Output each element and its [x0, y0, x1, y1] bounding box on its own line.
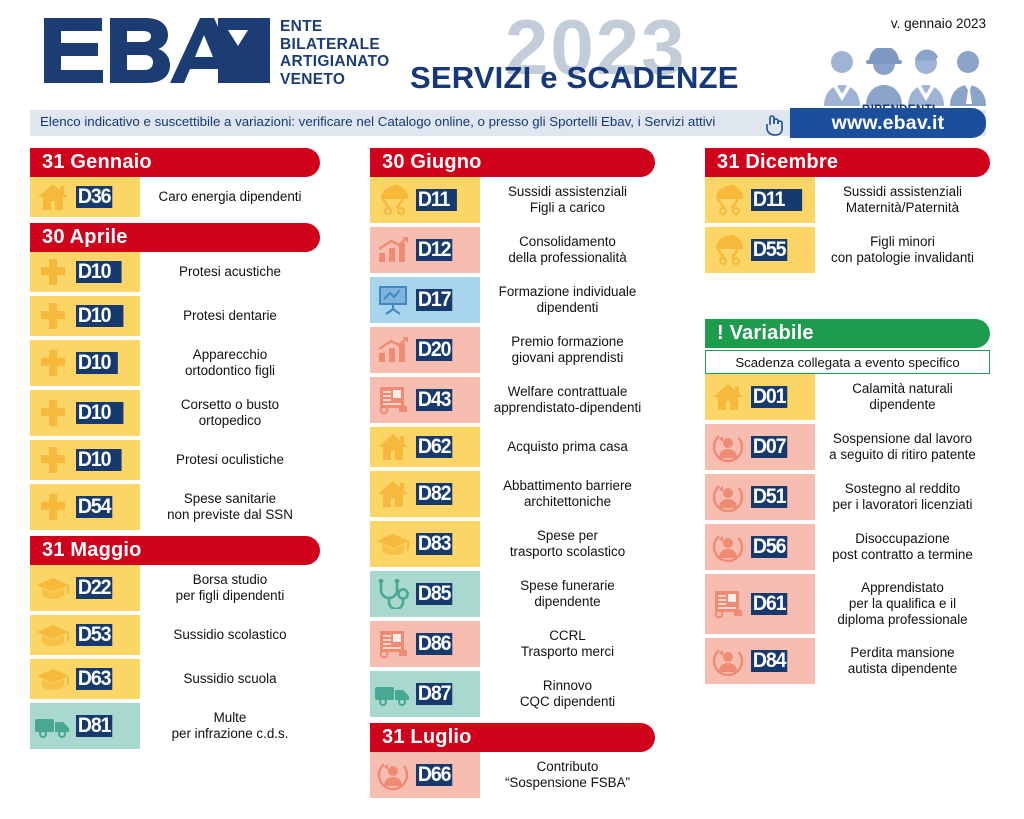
service-label: Spese funerariedipendente [480, 571, 655, 617]
service-label-text: Multeper infrazione c.d.s. [172, 710, 289, 742]
service-label: Sussidio scuola [140, 659, 320, 699]
service-label-text: Corsetto o bustoortopedico [181, 397, 279, 429]
section-title: 31 Maggio [42, 539, 142, 562]
service-label: Sussidio scolastico [140, 615, 320, 655]
service-label: Calamità naturalidipendente [815, 374, 990, 420]
workers-illustration [820, 48, 990, 108]
service-code-cell: D10f [76, 352, 140, 374]
service-label-text: Spese funerariedipendente [520, 578, 615, 610]
service-row[interactable]: D83Spese pertrasporto scolastico [370, 521, 655, 567]
service-code: D82 [416, 483, 452, 505]
service-label: Welfare contrattualeapprendistato-dipend… [480, 377, 655, 423]
service-code-cell: D10v [76, 449, 140, 471]
medical-cross-icon [30, 440, 76, 480]
service-label: Corsetto o bustoortopedico [140, 390, 320, 436]
logo-sub-line: ARTIGIANATO [280, 53, 390, 71]
section-header-31-dicembre: 31 Dicembre [705, 148, 990, 177]
service-label-text: Figli minoricon patologie invalidanti [831, 234, 974, 266]
service-label-text: Sostegno al redditoper i lavoratori lice… [833, 481, 973, 513]
service-label-text: Sussidi assistenzialiFigli a carico [508, 184, 627, 216]
service-code-cell: D17 [416, 289, 480, 311]
person-cycle-icon [705, 474, 751, 520]
service-label-text: Consolidamentodella professionalità [508, 234, 626, 266]
service-label: Sussidi assistenzialiMaternità/Paternità [815, 177, 990, 223]
service-label: CCRLTrasporto merci [480, 621, 655, 667]
section-rows: D66Contributo“Sospensione FSBA” [370, 752, 655, 798]
document-card-icon [370, 377, 416, 423]
service-row[interactable]: D85Spese funerariedipendente [370, 571, 655, 617]
medical-cross-icon [30, 340, 76, 386]
service-code: D85 [416, 583, 452, 605]
service-label: Sospensione dal lavoroa seguito di ritir… [815, 424, 990, 470]
service-row[interactable]: D63Sussidio scuola [30, 659, 320, 699]
person-cycle-icon [705, 424, 751, 470]
service-row[interactable]: D84Perdita mansioneautista dipendente [705, 638, 990, 684]
service-label: Figli minoricon patologie invalidanti [815, 227, 990, 273]
service-label: Protesi dentarie [140, 296, 320, 336]
document-card-icon [705, 574, 751, 634]
service-code: D84 [751, 650, 787, 672]
medical-cross-icon [30, 296, 76, 336]
service-label-text: Sospensione dal lavoroa seguito di ritir… [829, 431, 976, 463]
person-cycle-icon [705, 638, 751, 684]
page-header: ENTE BILATERALE ARTIGIANATO VENETO 2023 … [0, 0, 1024, 140]
service-code: D53 [76, 624, 112, 646]
pointing-hand-icon [762, 112, 788, 136]
column-middle: 30 GiugnoD11fSussidi assistenzialiFigli … [370, 148, 655, 802]
service-label: Apprendistatoper la qualifica e ildiplom… [815, 574, 990, 634]
service-label-text: Protesi oculistiche [176, 452, 284, 468]
service-row[interactable]: D10fApparecchioortodontico figli [30, 340, 320, 386]
service-code-cell: D11f [416, 189, 480, 211]
section: 30 AprileD10aProtesi acusticheD10dProtes… [30, 223, 320, 530]
service-code-cell: D84 [751, 650, 815, 672]
service-code: D55 [751, 239, 787, 261]
service-label: Apparecchioortodontico figli [140, 340, 320, 386]
service-row[interactable]: D53Sussidio scolastico [30, 615, 320, 655]
service-code: D22 [76, 577, 112, 599]
service-label-text: Protesi acustiche [179, 264, 281, 280]
service-label: Sussidi assistenzialiFigli a carico [480, 177, 655, 223]
service-code: D10p [76, 402, 123, 424]
service-code: D01 [751, 386, 787, 408]
house-icon [370, 427, 416, 467]
section-title: 30 Giugno [382, 151, 482, 174]
service-code: D61 [751, 593, 787, 615]
service-code: D07 [751, 436, 787, 458]
service-code: D20 [416, 339, 452, 361]
service-code-cell: D10p [76, 402, 140, 424]
service-code-cell: D10a [76, 261, 140, 283]
service-label-text: Protesi dentarie [183, 308, 277, 324]
service-code-cell: D82 [416, 483, 480, 505]
service-label-text: CCRLTrasporto merci [521, 628, 614, 660]
service-label: Disoccupazionepost contratto a termine [815, 524, 990, 570]
service-code-cell: D63 [76, 668, 140, 690]
service-label: Abbattimento barrierearchitettoniche [480, 471, 655, 517]
section-title: 31 Luglio [382, 726, 472, 749]
service-code: D51 [751, 486, 787, 508]
service-label-text: Welfare contrattualeapprendistato-dipend… [494, 384, 641, 416]
service-code-cell: D85 [416, 583, 480, 605]
website-pill[interactable]: www.ebav.it [790, 108, 986, 138]
section: 31 LuglioD66Contributo“Sospensione FSBA” [370, 723, 655, 798]
service-code: D17 [416, 289, 452, 311]
service-label: RinnovoCQC dipendenti [480, 671, 655, 717]
service-code-cell: D56 [751, 536, 815, 558]
service-code-cell: D01 [751, 386, 815, 408]
page-title: SERVIZI e SCADENZE [410, 60, 739, 96]
service-code: D81 [76, 715, 112, 737]
service-label-text: Apparecchioortodontico figli [185, 347, 275, 379]
service-label: Acquisto prima casa [480, 427, 655, 467]
service-code: D36 [76, 186, 112, 208]
service-row[interactable]: D81Multeper infrazione c.d.s. [30, 703, 320, 749]
truck-icon [30, 703, 76, 749]
website-url: www.ebav.it [832, 112, 945, 135]
service-code: D10d [76, 305, 123, 327]
disclaimer-text: Elenco indicativo e suscettibile a varia… [40, 114, 715, 129]
ebav-logo-mark [42, 12, 270, 90]
service-label: Contributo“Sospensione FSBA” [480, 752, 655, 798]
stroller-icon [370, 177, 416, 223]
section-title: 30 Aprile [42, 226, 128, 249]
section-note: Scadenza collegata a evento specifico [705, 350, 990, 374]
service-row[interactable]: D62Acquisto prima casa [370, 427, 655, 467]
service-label: Protesi oculistiche [140, 440, 320, 480]
section: 30 GiugnoD11fSussidi assistenzialiFigli … [370, 148, 655, 717]
graduation-cap-icon [30, 615, 76, 655]
service-row[interactable]: D43Welfare contrattualeapprendistato-dip… [370, 377, 655, 423]
logo-sub-line: BILATERALE [280, 36, 390, 54]
service-row[interactable]: D11mSussidi assistenzialiMaternità/Pater… [705, 177, 990, 223]
service-label: Perdita mansioneautista dipendente [815, 638, 990, 684]
service-code-cell: D11m [751, 189, 815, 211]
service-code-cell: D66 [416, 764, 480, 786]
service-code: D63 [76, 668, 112, 690]
service-row[interactable]: D82Abbattimento barrierearchitettoniche [370, 471, 655, 517]
section-rows: D10aProtesi acusticheD10dProtesi dentari… [30, 252, 320, 530]
service-label-text: Acquisto prima casa [507, 439, 628, 455]
ebav-logo: ENTE BILATERALE ARTIGIANATO VENETO [42, 12, 390, 90]
service-code: D87 [416, 683, 452, 705]
service-row[interactable]: D20Premio formazionegiovani apprendisti [370, 327, 655, 373]
service-row[interactable]: D56Disoccupazionepost contratto a termin… [705, 524, 990, 570]
column-left: 31 GennaioD36Caro energia dipendenti30 A… [30, 148, 320, 753]
service-row[interactable]: D87RinnovoCQC dipendenti [370, 671, 655, 717]
service-code-cell: D12 [416, 239, 480, 261]
service-label: Multeper infrazione c.d.s. [140, 703, 320, 749]
service-label-text: Contributo“Sospensione FSBA” [505, 759, 630, 791]
service-row[interactable]: D66Contributo“Sospensione FSBA” [370, 752, 655, 798]
section-header-31-luglio: 31 Luglio [370, 723, 655, 752]
service-code-cell: D07 [751, 436, 815, 458]
service-code-cell: D10d [76, 305, 140, 327]
service-label: Caro energia dipendenti [140, 177, 320, 217]
service-row[interactable]: D51Sostegno al redditoper i lavoratori l… [705, 474, 990, 520]
service-label-text: Apprendistatoper la qualifica e ildiplom… [837, 580, 967, 628]
section-header-30-giugno: 30 Giugno [370, 148, 655, 177]
service-row[interactable]: D36Caro energia dipendenti [30, 177, 320, 217]
medical-cross-icon [30, 252, 76, 292]
house-icon [30, 177, 76, 217]
section-rows: D11mSussidi assistenzialiMaternità/Pater… [705, 177, 990, 273]
service-label: Spese sanitarienon previste dal SSN [140, 484, 320, 530]
house-icon [705, 374, 751, 420]
presentation-board-icon [370, 277, 416, 323]
service-code-cell: D61 [751, 593, 815, 615]
section-rows: D01Calamità naturalidipendenteD07Sospens… [705, 374, 990, 684]
column-right: 31 DicembreD11mSussidi assistenzialiMate… [705, 148, 990, 688]
service-code-cell: D22 [76, 577, 140, 599]
service-label: Formazione individualedipendenti [480, 277, 655, 323]
section-header-30-aprile: 30 Aprile [30, 223, 320, 252]
bar-chart-icon [370, 227, 416, 273]
service-code: D10a [76, 261, 122, 283]
service-code-cell: D51 [751, 486, 815, 508]
service-code: D56 [751, 536, 787, 558]
stethoscope-icon [370, 571, 416, 617]
section-title: 31 Gennaio [42, 151, 152, 174]
section-header-31-maggio: 31 Maggio [30, 536, 320, 565]
service-row[interactable]: D55Figli minoricon patologie invalidanti [705, 227, 990, 273]
section-rows: D36Caro energia dipendenti [30, 177, 320, 217]
person-cycle-icon [370, 752, 416, 798]
house-icon [370, 471, 416, 517]
service-code: D12 [416, 239, 452, 261]
service-code-cell: D53 [76, 624, 140, 646]
logo-sub-line: ENTE [280, 18, 390, 36]
service-label-text: Calamità naturalidipendente [852, 381, 952, 413]
section-title: ! Variabile [717, 322, 814, 345]
service-label: Spese pertrasporto scolastico [480, 521, 655, 567]
service-label-text: Premio formazionegiovani apprendisti [511, 334, 623, 366]
service-code: D11m [751, 189, 802, 211]
service-row[interactable]: D86CCRLTrasporto merci [370, 621, 655, 667]
service-label: Consolidamentodella professionalità [480, 227, 655, 273]
bar-chart-icon [370, 327, 416, 373]
graduation-cap-icon [370, 521, 416, 567]
medical-cross-icon [30, 484, 76, 530]
section-header-variabile: ! Variabile [705, 319, 990, 348]
graduation-cap-icon [30, 659, 76, 699]
logo-subtitle: ENTE BILATERALE ARTIGIANATO VENETO [280, 18, 390, 88]
service-label-text: Borsa studioper figli dipendenti [176, 572, 285, 604]
service-code-cell: D83 [416, 533, 480, 555]
service-label-text: Formazione individualedipendenti [499, 284, 637, 316]
section: 31 MaggioD22Borsa studioper figli dipend… [30, 536, 320, 749]
service-row[interactable]: D10aProtesi acustiche [30, 252, 320, 292]
section-note-text: Scadenza collegata a evento specifico [735, 355, 959, 370]
service-code: D11f [416, 189, 457, 211]
service-row[interactable]: D10pCorsetto o bustoortopedico [30, 390, 320, 436]
graduation-cap-icon [30, 565, 76, 611]
truck-icon [370, 671, 416, 717]
service-code-cell: D20 [416, 339, 480, 361]
service-label-text: Caro energia dipendenti [159, 189, 302, 205]
service-row[interactable]: D10vProtesi oculistiche [30, 440, 320, 480]
service-row[interactable]: D01Calamità naturalidipendente [705, 374, 990, 420]
service-code: D86 [416, 633, 452, 655]
service-code: D10v [76, 449, 122, 471]
service-code: D62 [416, 436, 452, 458]
section: 31 GennaioD36Caro energia dipendenti [30, 148, 320, 217]
service-label-text: RinnovoCQC dipendenti [520, 678, 615, 710]
service-label-text: Perdita mansioneautista dipendente [848, 645, 957, 677]
service-label-text: Sussidio scuola [183, 671, 276, 687]
service-code: D66 [416, 764, 452, 786]
service-row[interactable]: D17Formazione individualedipendenti [370, 277, 655, 323]
service-row[interactable]: D22Borsa studioper figli dipendenti [30, 565, 320, 611]
service-code: D10f [76, 352, 118, 374]
service-label-text: Abbattimento barrierearchitettoniche [503, 478, 632, 510]
service-label: Protesi acustiche [140, 252, 320, 292]
service-code: D43 [416, 389, 452, 411]
medical-cross-icon [30, 390, 76, 436]
service-label: Premio formazionegiovani apprendisti [480, 327, 655, 373]
service-code-cell: D81 [76, 715, 140, 737]
document-card-icon [370, 621, 416, 667]
section-title: 31 Dicembre [717, 151, 838, 174]
service-code-cell: D55 [751, 239, 815, 261]
service-row[interactable]: D07Sospensione dal lavoroa seguito di ri… [705, 424, 990, 470]
service-row[interactable]: D11fSussidi assistenzialiFigli a carico [370, 177, 655, 223]
service-code: D83 [416, 533, 452, 555]
version-label: v. gennaio 2023 [891, 16, 986, 31]
section-rows: D11fSussidi assistenzialiFigli a caricoD… [370, 177, 655, 717]
section: 31 DicembreD11mSussidi assistenzialiMate… [705, 148, 990, 273]
service-label-text: Spese pertrasporto scolastico [510, 528, 625, 560]
service-row[interactable]: D54Spese sanitarienon previste dal SSN [30, 484, 320, 530]
service-label-text: Sussidi assistenzialiMaternità/Paternità [843, 184, 962, 216]
service-label: Sostegno al redditoper i lavoratori lice… [815, 474, 990, 520]
stroller-icon [705, 227, 751, 273]
service-label-text: Spese sanitarienon previste dal SSN [167, 491, 293, 523]
section: ! VariabileScadenza collegata a evento s… [705, 319, 990, 684]
service-row[interactable]: D10dProtesi dentarie [30, 296, 320, 336]
service-label-text: Sussidio scolastico [173, 627, 286, 643]
service-code-cell: D43 [416, 389, 480, 411]
service-code: D54 [76, 496, 112, 518]
stroller-icon [705, 177, 751, 223]
logo-sub-line: VENETO [280, 71, 390, 89]
service-code-cell: D54 [76, 496, 140, 518]
service-code-cell: D87 [416, 683, 480, 705]
service-label-text: Disoccupazionepost contratto a termine [832, 531, 973, 563]
service-row[interactable]: D12Consolidamentodella professionalità [370, 227, 655, 273]
person-cycle-icon [705, 524, 751, 570]
service-code-cell: D62 [416, 436, 480, 458]
service-row[interactable]: D61Apprendistatoper la qualifica e ildip… [705, 574, 990, 634]
service-code-cell: D36 [76, 186, 140, 208]
service-code-cell: D86 [416, 633, 480, 655]
service-label: Borsa studioper figli dipendenti [140, 565, 320, 611]
section-header-31-gennaio: 31 Gennaio [30, 148, 320, 177]
section-rows: D22Borsa studioper figli dipendentiD53Su… [30, 565, 320, 749]
